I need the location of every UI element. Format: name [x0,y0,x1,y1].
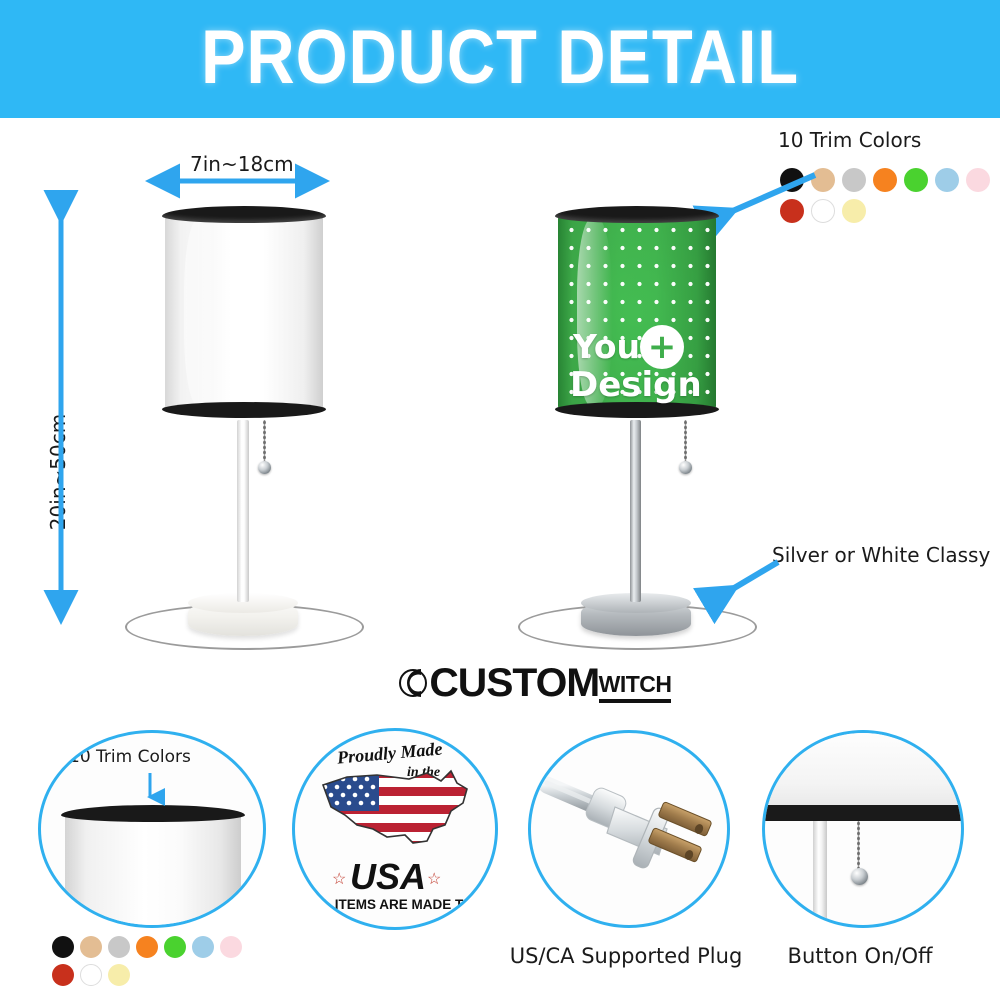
panel-plug [528,730,730,928]
trim-swatch-yellow[interactable] [108,964,130,986]
switch-trim-band [762,805,964,821]
trim-swatch-black[interactable] [52,936,74,958]
panel-trim-colors-callout: 10 Trim Colors [69,747,191,767]
white-lamp-pull-chain[interactable] [263,420,266,465]
trim-swatch-green[interactable] [904,168,928,192]
green-lamp-trim-top [555,206,719,223]
usa-tagline: ALL ITEMS ARE MADE TO ORDER! [305,897,498,912]
add-design-icon[interactable]: + [640,325,684,369]
brand-name-sub: WITCH [599,672,672,703]
trim-swatch-yellow[interactable] [842,199,866,223]
plug-caption: US/CA Supported Plug [498,944,754,968]
trim-swatch-light-blue[interactable] [192,936,214,958]
panel-trim-shade-body [65,813,241,928]
switch-caption: Button On/Off [752,944,968,968]
trim-swatch-pink[interactable] [220,936,242,958]
panel-trim-ring [61,805,245,822]
usa-word: USA [350,859,426,895]
usa-map-flag-icon [317,763,477,861]
green-lamp-stem [630,420,641,602]
white-lamp-stem [237,420,249,602]
switch-stem [813,821,827,928]
panel-switch [762,730,964,928]
trim-swatch-orange[interactable] [136,936,158,958]
base-finish-arrow [700,552,790,612]
plus-glyph: + [648,330,677,364]
white-lamp-shade-gloss [184,219,219,406]
base-finish-label: Silver or White Classy [772,543,990,567]
trim-colors-top-label: 10 Trim Colors [778,128,921,152]
trim-swatch-light-blue[interactable] [935,168,959,192]
white-lamp-trim-top [162,206,326,223]
star-icon-left: ☆ [332,869,346,889]
white-lamp-trim-bottom [162,402,326,418]
trim-swatch-gray[interactable] [842,168,866,192]
trim-swatch-white[interactable] [80,964,102,986]
panel-made-in-usa: Proudly Made in the [292,728,498,930]
trim-swatch-orange[interactable] [873,168,897,192]
header-banner: PRODUCT DETAIL [0,0,1000,118]
green-lamp-chain-ball[interactable] [679,461,692,474]
trim-swatch-green[interactable] [164,936,186,958]
switch-shade-body [762,730,964,809]
panel-trim-colors: 10 Trim Colors [38,730,266,928]
white-lamp-shade-body [165,215,323,410]
green-lamp-pull-chain[interactable] [684,420,687,465]
trim-swatch-red[interactable] [52,964,74,986]
height-dimension-arrow [52,208,70,632]
us-plug-icon [531,733,727,925]
page-title: PRODUCT DETAIL [60,20,940,96]
brand-logo: CUSTOM WITCH [395,663,671,703]
design-placeholder-line2: Design [570,368,702,402]
switch-chain-ball[interactable] [851,868,868,885]
trim-swatch-tan[interactable] [80,936,102,958]
white-lamp-chain-ball[interactable] [258,461,271,474]
brand-name-main: CUSTOM [429,663,599,703]
trim-colors-panel-swatches[interactable] [52,936,267,986]
white-lamp-shade [165,215,323,410]
switch-pull-chain[interactable] [857,821,860,873]
panel-trim-arrow [141,771,161,805]
trim-swatch-pink[interactable] [966,168,990,192]
width-dimension-arrow [160,172,335,190]
trim-swatch-gray[interactable] [108,936,130,958]
star-icon-right: ☆ [427,869,441,889]
